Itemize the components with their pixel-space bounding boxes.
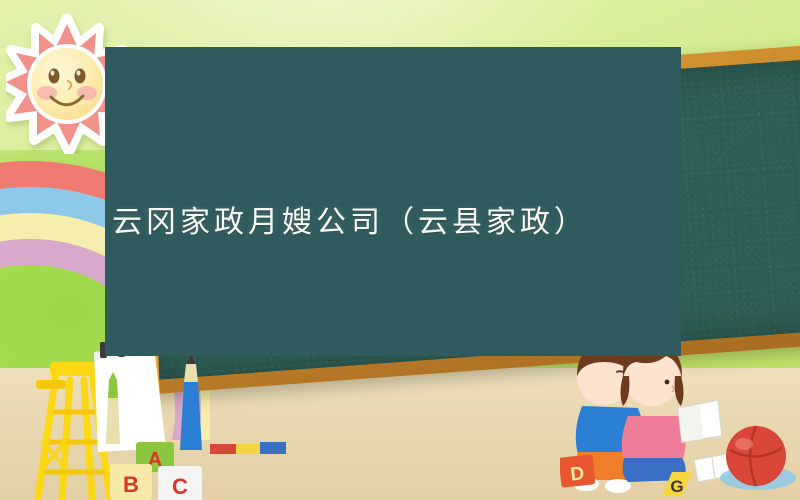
blue-pencil [180,352,202,450]
block-b: B [110,464,152,500]
spiral-notepad [94,340,166,452]
svg-text:C: C [172,474,188,499]
banner-canvas: A B C [0,0,800,500]
block-d: D [560,454,595,487]
svg-text:B: B [123,472,139,497]
svg-text:D: D [569,463,585,485]
red-ball [720,426,796,490]
svg-text:G: G [670,477,683,496]
block-c: C [158,466,202,500]
caption-panel [105,47,681,356]
desk-supplies-group: A B C [92,340,342,500]
